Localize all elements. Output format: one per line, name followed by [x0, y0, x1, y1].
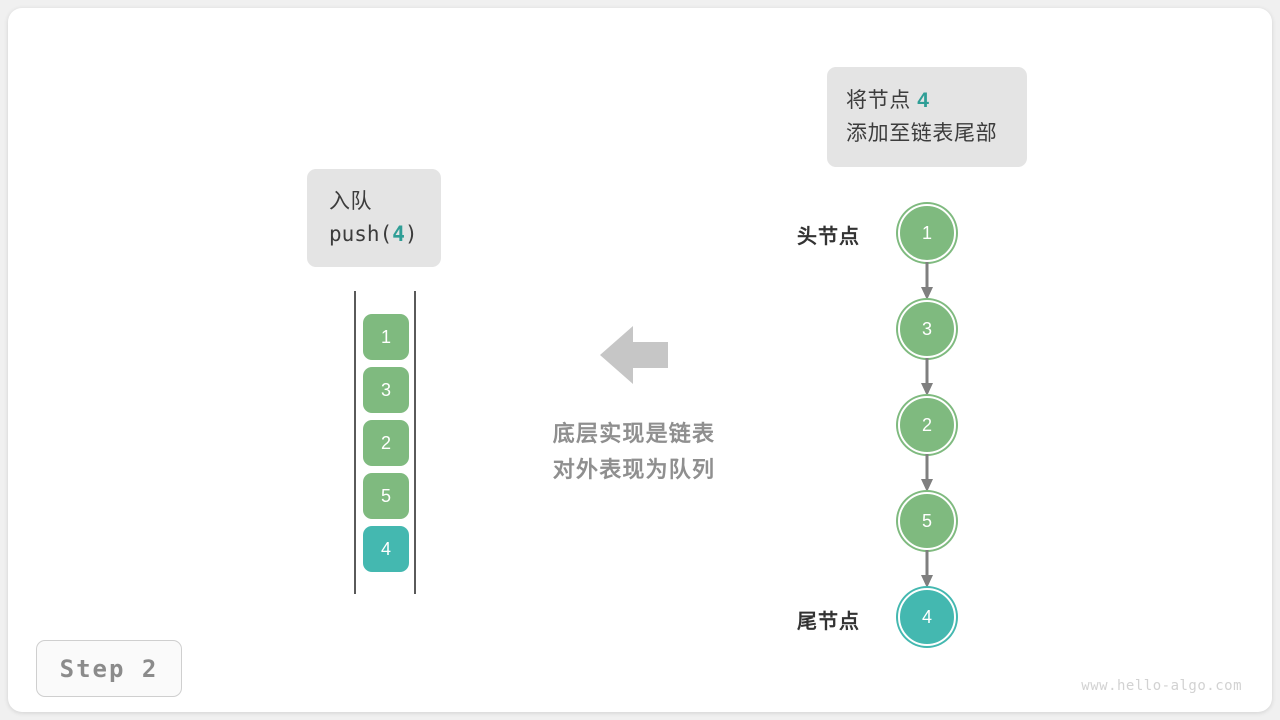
node-append-label: 将节点 4 添加至链表尾部	[827, 67, 1027, 167]
node-append-line1-value: 4	[917, 89, 929, 112]
linked-list-visualization: 头节点 尾节点 1 3 2 5	[788, 198, 988, 658]
node-append-line2: 添加至链表尾部	[846, 119, 1027, 149]
queue-item: 3	[363, 367, 409, 413]
list-node: 5	[898, 492, 956, 550]
list-node: 2	[898, 396, 956, 454]
watermark: www.hello-algo.com	[1081, 678, 1242, 694]
list-node: 3	[898, 300, 956, 358]
queue-rail-right	[414, 291, 416, 594]
head-node-label: 头节点	[740, 220, 860, 249]
list-node: 1	[898, 204, 956, 262]
arrow-down-icon	[920, 550, 934, 588]
arrow-left-icon	[600, 326, 668, 384]
push-code-suffix: )	[405, 222, 418, 246]
push-operation-label: 入队 push(4)	[307, 169, 441, 267]
implementation-note-line2: 对外表现为队列	[512, 452, 756, 488]
push-label-line1: 入队	[329, 187, 441, 217]
queue-visualization: 1 3 2 5 4	[348, 291, 422, 594]
illustration-canvas: 入队 push(4) 将节点 4 添加至链表尾部 底层实现是链表 对外表现为队列…	[8, 8, 1272, 712]
push-code-prefix: push(	[329, 222, 392, 246]
arrow-down-icon	[920, 262, 934, 300]
arrow-down-icon	[920, 454, 934, 492]
node-append-line1-prefix: 将节点	[846, 89, 917, 112]
queue-item: 5	[363, 473, 409, 519]
queue-item: 1	[363, 314, 409, 360]
implementation-note-line1: 底层实现是链表	[512, 416, 756, 452]
arrow-down-icon	[920, 358, 934, 396]
tail-node-label: 尾节点	[740, 605, 860, 634]
step-badge: Step 2	[36, 640, 182, 697]
queue-rail-left	[354, 291, 356, 594]
queue-item: 4	[363, 526, 409, 572]
list-node: 4	[898, 588, 956, 646]
node-append-line1: 将节点 4	[846, 86, 1027, 116]
queue-item: 2	[363, 420, 409, 466]
push-label-code: push(4)	[329, 220, 441, 250]
push-code-value: 4	[392, 222, 405, 246]
implementation-note: 底层实现是链表 对外表现为队列	[512, 416, 756, 487]
